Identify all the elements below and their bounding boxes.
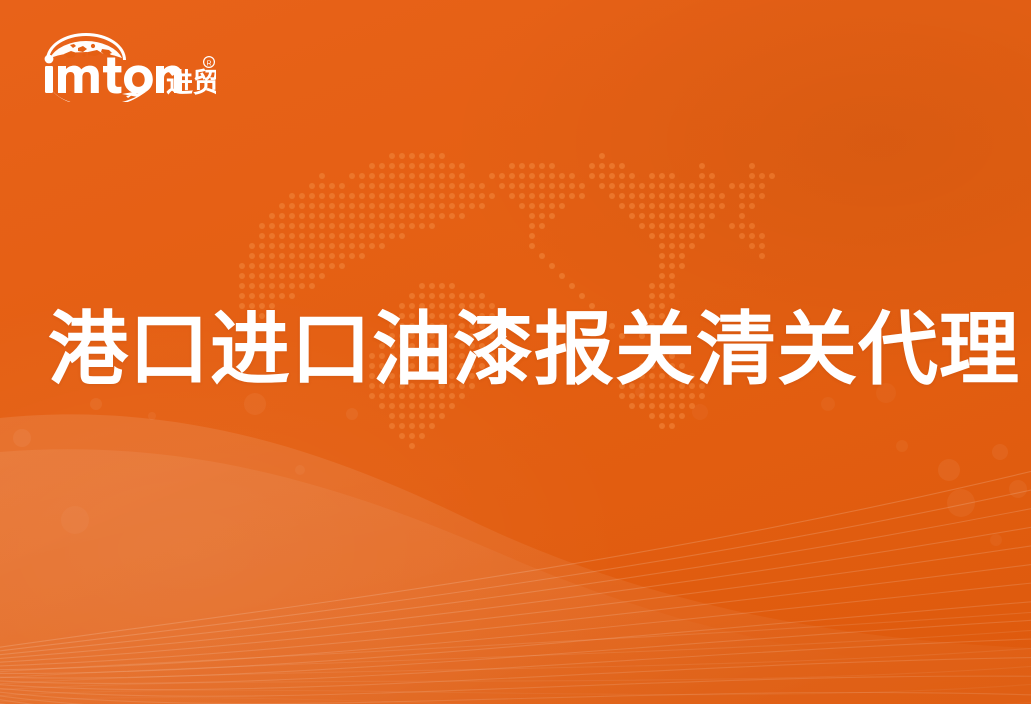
svg-text:进贸通: 进贸通 xyxy=(166,68,216,98)
logo-wordmark-chinese: 进贸通 xyxy=(166,68,216,98)
brand-logo[interactable]: 进贸通 R xyxy=(40,28,216,102)
globe-arc-icon xyxy=(46,33,126,60)
svg-text:R: R xyxy=(206,61,211,68)
promo-banner: 进贸通 R 港口进口油漆报关清关代理 xyxy=(0,0,1031,704)
logo-wordmark-latin xyxy=(45,55,182,94)
page-title: 港口进口油漆报关清关代理 xyxy=(48,308,1020,391)
trademark-icon: R xyxy=(204,57,215,68)
